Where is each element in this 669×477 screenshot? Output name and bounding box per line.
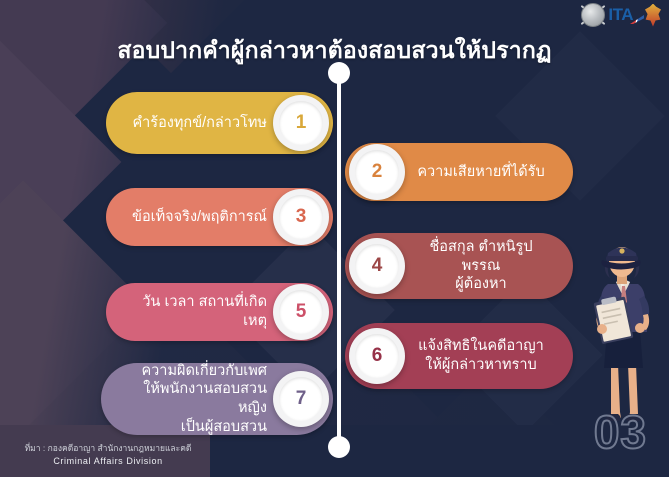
garuda-emblem-icon: [645, 4, 661, 27]
timeline-item-number: 7: [296, 388, 307, 410]
timeline-item-label: วัน เวลา สถานที่เกิดเหตุ: [106, 293, 273, 330]
timeline-item-number: 3: [296, 206, 307, 228]
timeline-item-label: คำร้องทุกข์/กล่าวโทษ: [106, 114, 273, 133]
female-police-officer-illustration: [578, 236, 664, 432]
footer: ที่มา : กองคดีอาญา สำนักงานกฎหมายและคดี …: [8, 442, 208, 468]
timeline-item-3[interactable]: ข้อเท็จจริง/พฤติการณ์3: [106, 188, 333, 246]
timeline-item-number-badge: 6: [349, 328, 405, 384]
timeline-item-number-badge: 7: [273, 371, 329, 427]
timeline-item-label: ความผิดเกี่ยวกับเพศ ให้พนักงานสอบสวนหญิง…: [101, 362, 273, 436]
timeline-item-number-badge: 4: [349, 238, 405, 294]
page-number: 03: [594, 405, 647, 459]
government-seal-icon: [581, 3, 605, 27]
page-title: สอบปากคำผู้กล่าวหาต้องสอบสวนให้ปรากฏ: [0, 33, 669, 69]
timeline-item-label: ข้อเท็จจริง/พฤติการณ์: [106, 208, 273, 227]
timeline-end-dot: [328, 436, 350, 458]
timeline-item-label: แจ้งสิทธิในคดีอาญา ให้ผู้กล่าวหาทราบ: [405, 337, 573, 374]
timeline-item-number: 6: [372, 345, 383, 367]
timeline-item-4[interactable]: 4ชื่อสกุล ตำหนิรูปพรรณ ผู้ต้องหา: [345, 233, 573, 299]
timeline-item-7[interactable]: ความผิดเกี่ยวกับเพศ ให้พนักงานสอบสวนหญิง…: [101, 363, 333, 435]
timeline-item-number: 2: [372, 161, 383, 183]
timeline-item-number: 1: [296, 112, 307, 134]
timeline-item-label: ความเสียหายที่ได้รับ: [405, 163, 573, 182]
timeline-item-number: 5: [296, 301, 307, 323]
footer-source-en: Criminal Affairs Division: [8, 455, 208, 469]
logo-bar: ITA: [581, 3, 661, 27]
timeline-line: [337, 70, 341, 448]
timeline-item-number: 4: [372, 255, 383, 277]
ita-logo: ITA: [608, 5, 642, 25]
timeline-item-2[interactable]: 2ความเสียหายที่ได้รับ: [345, 143, 573, 201]
timeline-item-number-badge: 5: [273, 284, 329, 340]
timeline-item-6[interactable]: 6แจ้งสิทธิในคดีอาญา ให้ผู้กล่าวหาทราบ: [345, 323, 573, 389]
ita-logo-label: ITA: [608, 5, 633, 24]
timeline-item-5[interactable]: วัน เวลา สถานที่เกิดเหตุ5: [106, 283, 333, 341]
timeline-item-number-badge: 3: [273, 189, 329, 245]
timeline-item-number-badge: 1: [273, 95, 329, 151]
timeline-item-label: ชื่อสกุล ตำหนิรูปพรรณ ผู้ต้องหา: [405, 238, 573, 294]
timeline-item-1[interactable]: คำร้องทุกข์/กล่าวโทษ1: [106, 92, 333, 154]
timeline-item-number-badge: 2: [349, 144, 405, 200]
infographic-slide: ITA สอบปากคำผู้กล่าวหาต้องสอบสวนให้ปรากฏ…: [0, 0, 669, 477]
footer-source-th: ที่มา : กองคดีอาญา สำนักงานกฎหมายและคดี: [8, 442, 208, 455]
